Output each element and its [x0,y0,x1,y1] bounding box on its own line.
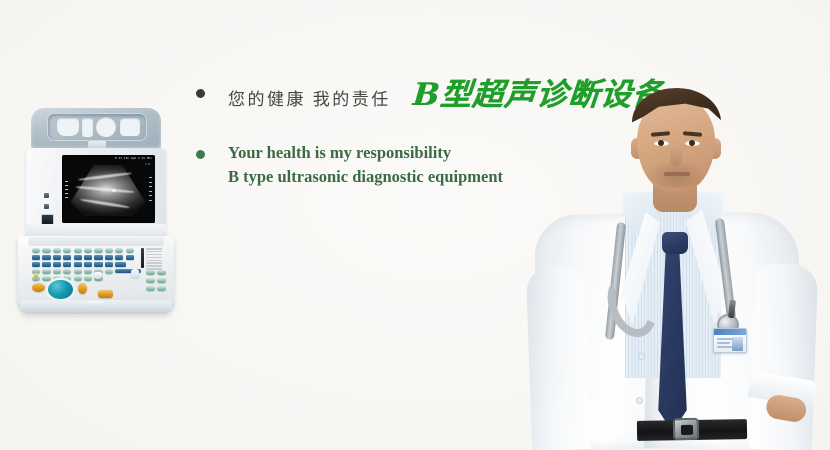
doctor-photo [525,86,830,450]
power-led-icon [34,273,38,278]
key-row [32,255,132,260]
function-button-orange [98,290,113,298]
display-osd-right: C 0 [145,163,150,166]
display-osd-top: M 23 I2b 4pR d 34 HHz [115,157,152,160]
monitor-button [44,204,49,209]
english-text-group: Your health is my responsibility B type … [228,141,503,190]
ultrasound-machine-image: M 23 I2b 4pR d 34 HHz C 0 [18,108,174,322]
depth-scale-left [65,181,68,198]
key-row [32,276,132,281]
id-badge-text-line [717,338,733,340]
bullet-dot-icon [196,89,205,98]
keyboard [32,248,132,283]
machine-keyboard-deck [18,236,174,308]
pupil-right [689,140,695,146]
scan-marker-icon [112,189,116,192]
depth-scale-right [149,177,152,201]
tgc-slider-panel [141,248,164,268]
id-badge [713,328,747,353]
id-badge-photo [732,337,743,351]
key-row [32,262,132,267]
necktie-knot [662,232,688,254]
english-tagline-line-2: B type ultrasonic diagnostic equipment [228,165,503,189]
pupil-left [658,140,664,146]
machine-base [20,300,172,314]
deck-hinge [28,237,164,246]
belt-buckle [673,418,699,440]
tgc-slider-ticks [146,248,162,270]
base-latch [86,301,103,307]
key-row [32,269,132,274]
machine-lid [31,108,161,150]
ultrasound-display: M 23 I2b 4pR d 34 HHz C 0 [62,155,155,223]
monitor-button [44,193,49,198]
probe-slot-icon [82,118,93,137]
mouth [664,172,690,176]
bullet-dot-icon [196,150,205,159]
coat-button [639,354,644,359]
id-badge-header [714,329,746,335]
rotary-knob [131,269,139,278]
function-button-orange [32,283,45,292]
chinese-tagline: 您的健康 我的责任 [228,90,391,110]
trackball-control [48,280,73,299]
scan-image [68,165,148,217]
machine-monitor: M 23 I2b 4pR d 34 HHz C 0 [26,148,166,240]
id-badge-text-line [717,346,732,348]
coat-sleeve-left [526,265,590,450]
coat-button [637,398,642,403]
probe-slot-icon [96,117,116,137]
function-button-orange [78,283,87,294]
english-tagline-line-1: Your health is my responsibility [228,141,503,165]
key-row [32,248,132,253]
numeric-keypad [146,270,166,291]
promo-banner: M 23 I2b 4pR d 34 HHz C 0 [0,0,830,450]
id-badge-text-line [717,342,730,344]
nose [670,146,682,166]
probe-slot-icon [120,118,140,136]
hand [764,393,808,424]
probe-slot-icon [57,118,79,136]
probe-tray [47,113,147,141]
